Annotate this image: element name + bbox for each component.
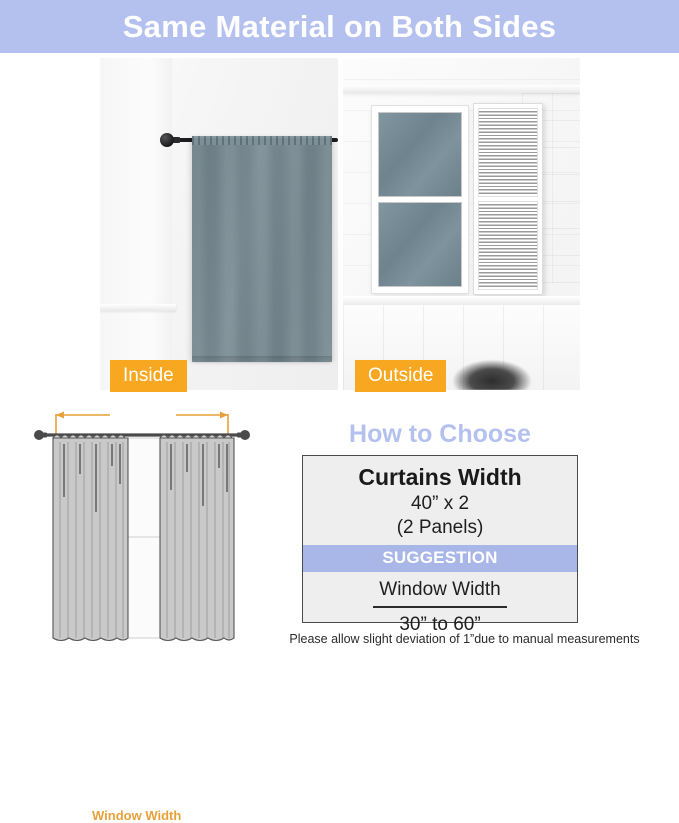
shutter-louvers-top (478, 108, 538, 197)
diagram-finial-right (237, 430, 250, 440)
curtain-rod-neck (173, 137, 180, 143)
window-width-diagram: Window Width (18, 402, 270, 650)
curtain-diagram-svg (18, 402, 270, 650)
inside-photo (100, 58, 338, 390)
suggestion-banner: SUGGESTION (303, 545, 577, 572)
header-banner: Same Material on Both Sides (0, 0, 679, 53)
shrub (453, 360, 531, 390)
window-shutter (473, 103, 543, 295)
window-sill-board (343, 296, 580, 305)
window-pane-top (378, 112, 462, 197)
measurement-bracket (56, 414, 228, 436)
interior-wall (100, 58, 172, 390)
panels-note: (2 Panels) (397, 517, 484, 540)
inside-badge: Inside (110, 360, 187, 392)
curtain-hem (192, 356, 332, 363)
curtain-rod-finial (160, 133, 174, 147)
photo-comparison-row (100, 58, 580, 390)
diagram-finial-left (34, 430, 47, 440)
outside-photo (343, 58, 580, 390)
page-title: Same Material on Both Sides (123, 11, 557, 42)
window-pane-bottom (378, 202, 462, 287)
curtains-width-label: Curtains Width (358, 464, 521, 490)
curtain-panel (192, 138, 332, 362)
outside-badge: Outside (355, 360, 446, 392)
exterior-window (372, 106, 468, 293)
measurement-footnote: Please allow slight deviation of 1”due t… (252, 632, 677, 646)
window-width-label: Window Width (373, 579, 506, 608)
curtain-rod-pocket-gathers (192, 136, 332, 145)
diagram-window (128, 438, 160, 638)
window-width-measure-label: Window Width (88, 808, 185, 823)
how-to-choose-title: How to Choose (302, 422, 578, 447)
shutter-louvers-bottom (478, 201, 538, 290)
how-to-choose-box: Curtains Width 40” x 2 (2 Panels) SUGGES… (302, 455, 578, 623)
wall-ledge (100, 304, 176, 311)
curtains-width-value: 40” x 2 (411, 493, 469, 516)
roof-eave (343, 85, 580, 93)
